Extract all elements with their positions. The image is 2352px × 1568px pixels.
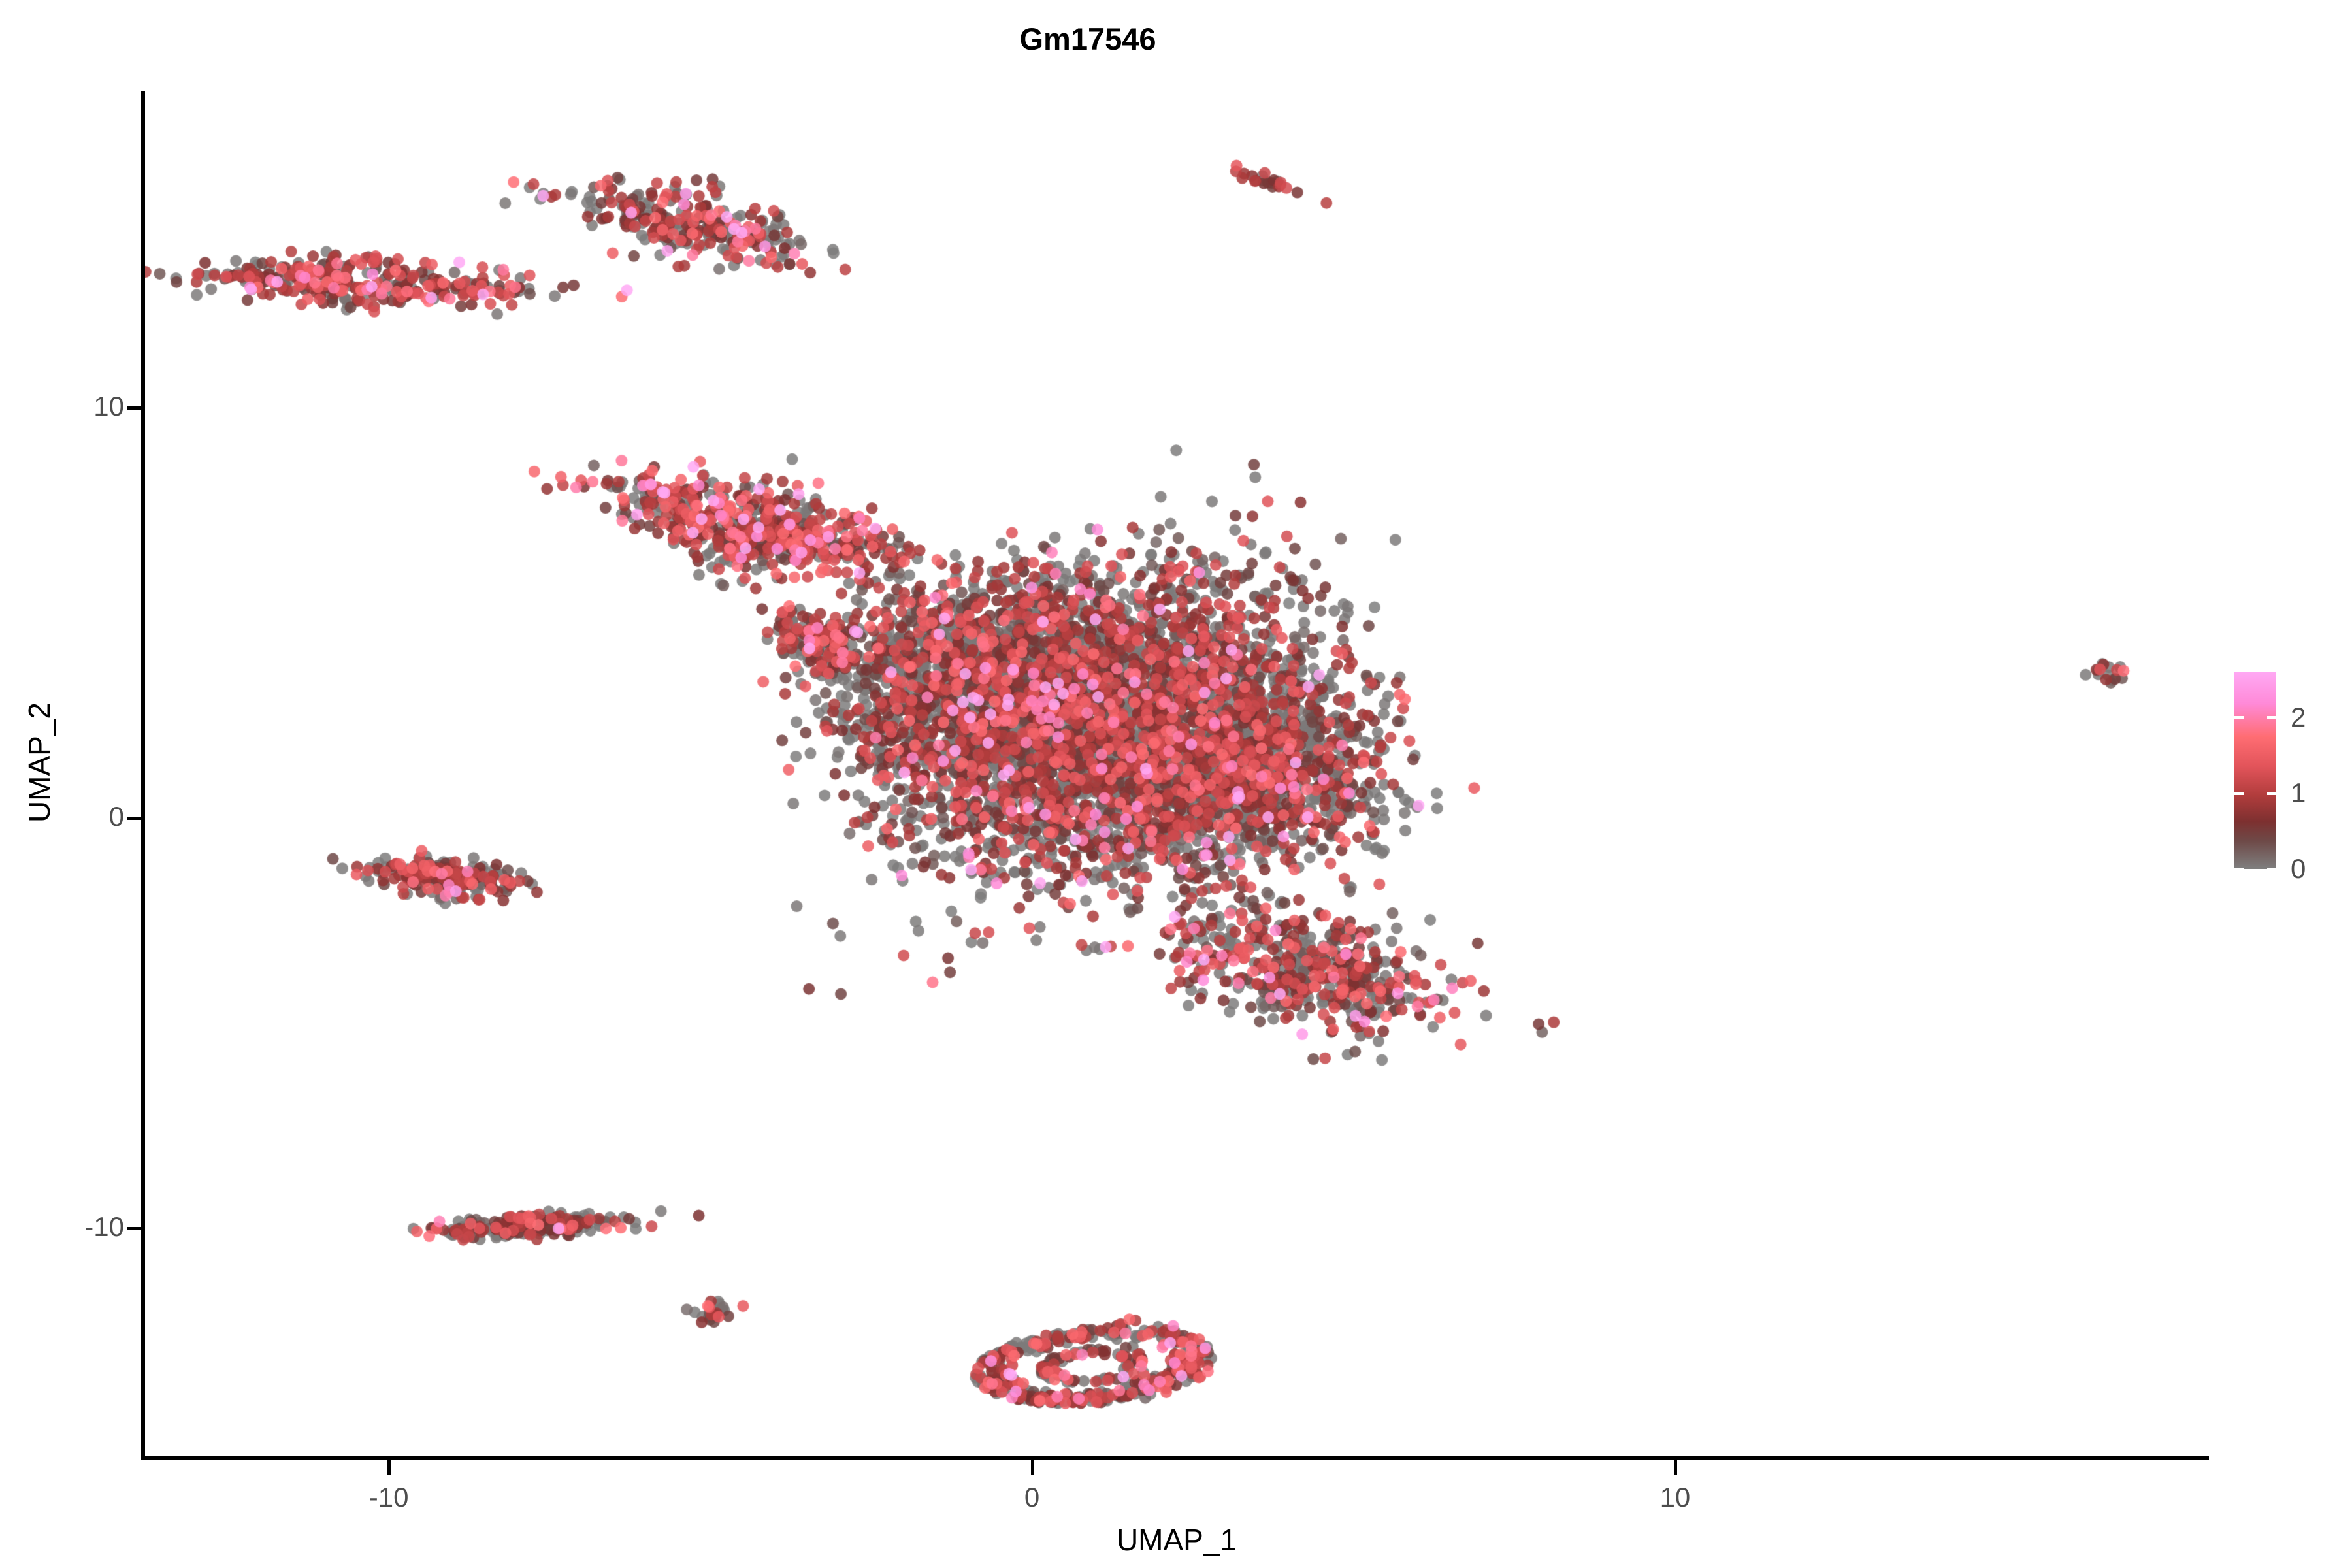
y-axis-line (141, 91, 145, 1460)
page-title: Gm17546 (0, 24, 2176, 54)
x-axis-line (141, 1456, 2209, 1460)
colorbar-tick-mark (2234, 716, 2244, 719)
x-tick-mark (387, 1460, 391, 1475)
y-tick-mark (127, 1227, 141, 1230)
colorbar-tick-label: 0 (2291, 853, 2306, 885)
y-axis-label: UMAP_2 (22, 501, 57, 1024)
y-tick-mark (127, 817, 141, 820)
colorbar-tick-mark (2267, 868, 2276, 871)
plot-panel (144, 91, 2209, 1458)
scatter-points-canvas (144, 91, 2209, 1458)
y-tick-mark (127, 406, 141, 410)
x-tick-label: -10 (369, 1482, 409, 1513)
colorbar-tick-label: 1 (2291, 777, 2306, 809)
colorbar-tick-mark (2267, 792, 2276, 795)
x-tick-mark (1031, 1460, 1034, 1475)
y-tick-label: -10 (84, 1211, 124, 1243)
y-tick-label: 10 (93, 391, 124, 422)
x-tick-label: 0 (1024, 1482, 1039, 1513)
umap-feature-plot: Gm17546 100-10 -10010 UMAP_1 UMAP_2 210 (0, 0, 2352, 1568)
colorbar-tick-mark (2234, 868, 2244, 871)
colorbar-legend: 210 (2234, 666, 2345, 882)
colorbar-gradient (2234, 672, 2276, 869)
x-axis-label: UMAP_1 (144, 1522, 2209, 1558)
x-tick-label: 10 (1660, 1482, 1691, 1513)
colorbar-tick-mark (2267, 716, 2276, 719)
x-tick-mark (1674, 1460, 1677, 1475)
y-tick-label: 0 (109, 801, 124, 832)
colorbar-tick-mark (2234, 792, 2244, 795)
colorbar-tick-label: 2 (2291, 702, 2306, 733)
